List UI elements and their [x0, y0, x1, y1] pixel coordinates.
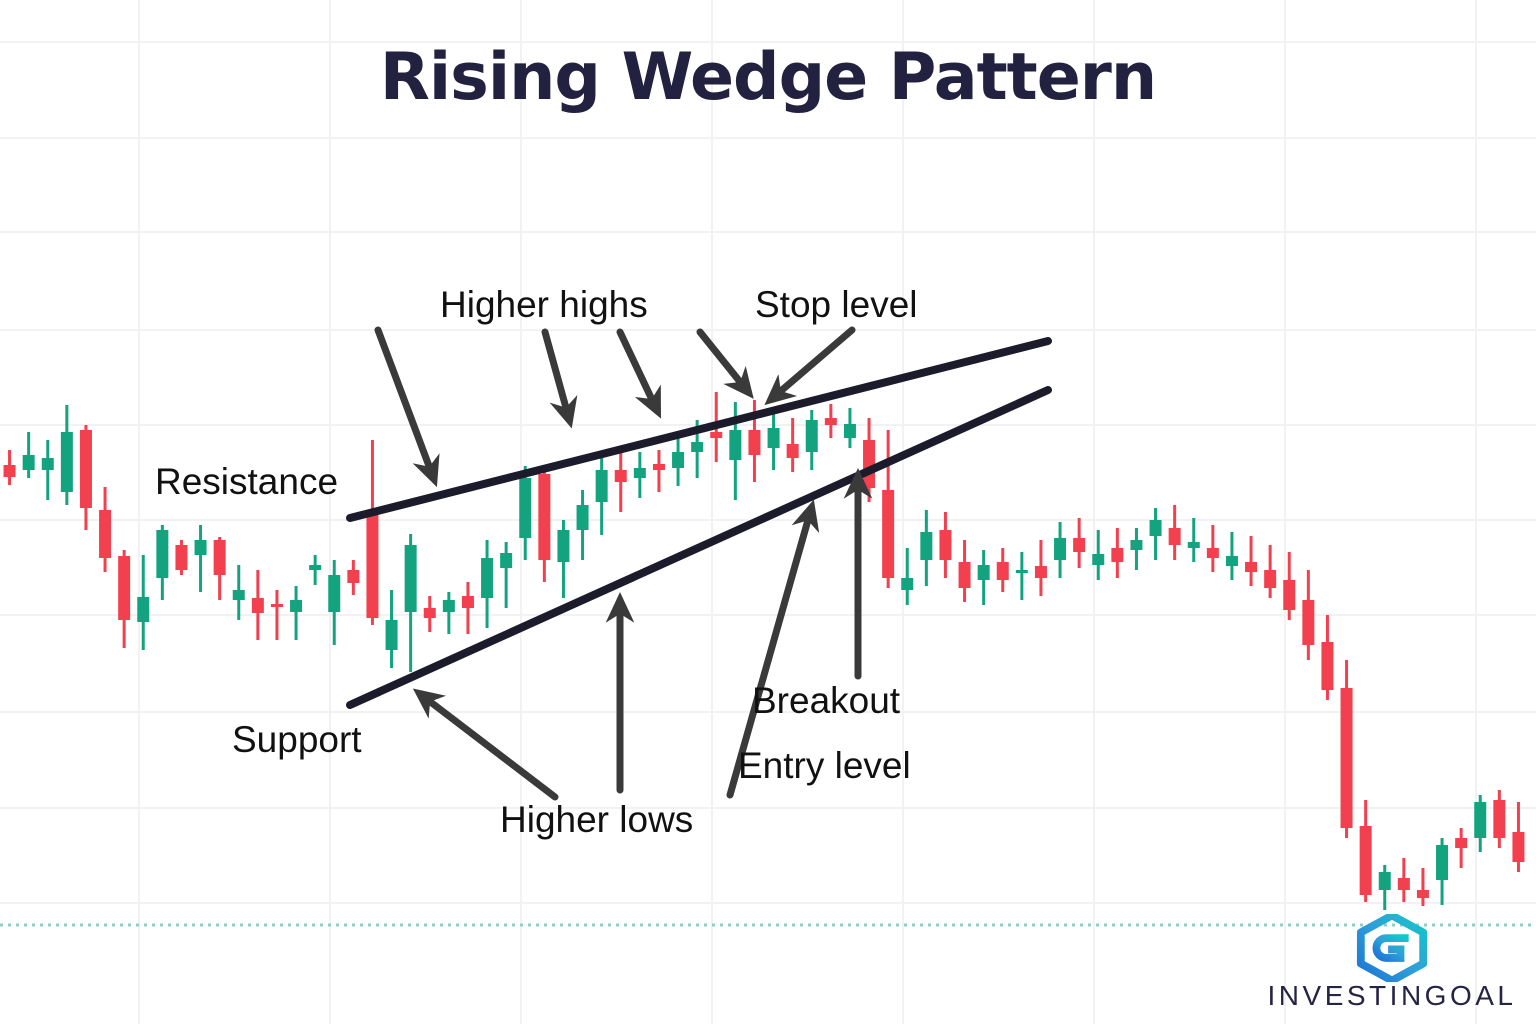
candle-body [1302, 600, 1314, 645]
resistance-trendline [350, 341, 1048, 518]
candle-body [634, 468, 646, 478]
candle-body [214, 540, 226, 575]
candle-body [1073, 538, 1085, 552]
candle-body [596, 470, 608, 502]
annotation-label-stop-level: Stop level [755, 286, 918, 323]
candle-body [1417, 890, 1429, 898]
candle-body [863, 440, 875, 488]
arrow-higher-high-3 [700, 332, 745, 388]
wedge-trendlines [350, 341, 1048, 705]
candle-body [500, 553, 512, 568]
candle-body [538, 474, 550, 560]
candle-body [1111, 548, 1123, 562]
annotation-label-support: Support [232, 721, 362, 758]
candle-body [1245, 562, 1257, 572]
annotation-label-higher-lows: Higher lows [500, 801, 693, 838]
candle-body [768, 428, 780, 448]
candle-body [4, 465, 16, 477]
candle-body [1264, 570, 1276, 588]
brand-name: INVESTINGOAL [1266, 980, 1518, 1012]
candle-body [691, 442, 703, 452]
candle-body [748, 430, 760, 455]
candle-body [844, 424, 856, 438]
candle-body [1493, 800, 1505, 838]
candle-body [424, 608, 436, 618]
candle-body [1455, 838, 1467, 848]
candle-body [959, 562, 971, 588]
candle-body [1016, 570, 1028, 573]
candle-body [462, 596, 474, 608]
candle-body [23, 455, 35, 470]
candle-body [710, 432, 722, 438]
candle-body [920, 532, 932, 560]
candle-body [233, 590, 245, 600]
candle-body [137, 597, 149, 622]
candle-body [1321, 642, 1333, 690]
candle-body [1207, 548, 1219, 558]
annotation-label-higher-highs: Higher highs [440, 286, 648, 323]
candle-body [61, 432, 73, 492]
candle-body [156, 530, 168, 578]
candle-body [290, 600, 302, 612]
candle-body [1150, 520, 1162, 536]
candle-body [1474, 802, 1486, 838]
candle-body [806, 420, 818, 452]
candle-body [825, 418, 837, 425]
candle-body [615, 470, 627, 482]
candle-body [1360, 826, 1372, 895]
candle-body [252, 598, 264, 613]
annotation-label-resistance: Resistance [155, 463, 338, 500]
annotation-label-breakout: Breakout [752, 682, 900, 719]
candle-body [519, 478, 531, 538]
hexagon-g-logo-icon [1356, 914, 1428, 982]
candle-body [672, 452, 684, 468]
candle-body [729, 430, 741, 460]
page-title: Rising Wedge Pattern [0, 40, 1536, 115]
candle-body [787, 444, 799, 458]
brand-logo: INVESTINGOAL [1266, 914, 1518, 1014]
annotation-arrows [378, 330, 858, 797]
candle-body [653, 464, 665, 470]
candle-body [347, 570, 359, 583]
candle-body [1035, 566, 1047, 578]
candle-body [1188, 542, 1200, 548]
candle-body [1054, 538, 1066, 560]
chart-canvas: Rising Wedge Pattern Higher highsStop le… [0, 0, 1536, 1024]
candle-body [939, 530, 951, 560]
candle-body [42, 458, 54, 470]
candle-body [118, 556, 130, 620]
candle-body [1092, 554, 1104, 565]
arrow-stop-level [775, 330, 852, 396]
candle-body [386, 620, 398, 650]
arrow-higher-high-2 [620, 332, 655, 406]
candle-body [271, 604, 283, 607]
candle-body [481, 558, 493, 598]
candle-body [309, 565, 321, 570]
candle-body [997, 562, 1009, 580]
candle-body [978, 565, 990, 580]
candle-body [577, 505, 589, 530]
candle-body [99, 510, 111, 558]
candle-body [195, 540, 207, 555]
candle-body [80, 430, 92, 508]
candle-body [1283, 580, 1295, 610]
candle-body [882, 490, 894, 578]
arrow-resistance [378, 330, 432, 474]
candle-body [175, 545, 187, 570]
annotation-label-entry-level: Entry level [738, 747, 911, 784]
arrow-higher-high-1 [545, 332, 568, 415]
candle-body [1398, 878, 1410, 890]
candle-body [366, 512, 378, 618]
candle-body [1379, 872, 1391, 890]
candle-body [443, 600, 455, 612]
candle-body [901, 578, 913, 590]
candle-body [1512, 832, 1524, 862]
candle-body [1436, 845, 1448, 880]
candle-body [1130, 540, 1142, 550]
candle-body [405, 545, 417, 612]
candle-body [1226, 556, 1238, 566]
candle-body [1341, 688, 1353, 828]
candle-body [1169, 528, 1181, 545]
candle-body [557, 530, 569, 562]
candlestick-chart [0, 0, 1536, 1024]
candle-body [328, 575, 340, 612]
